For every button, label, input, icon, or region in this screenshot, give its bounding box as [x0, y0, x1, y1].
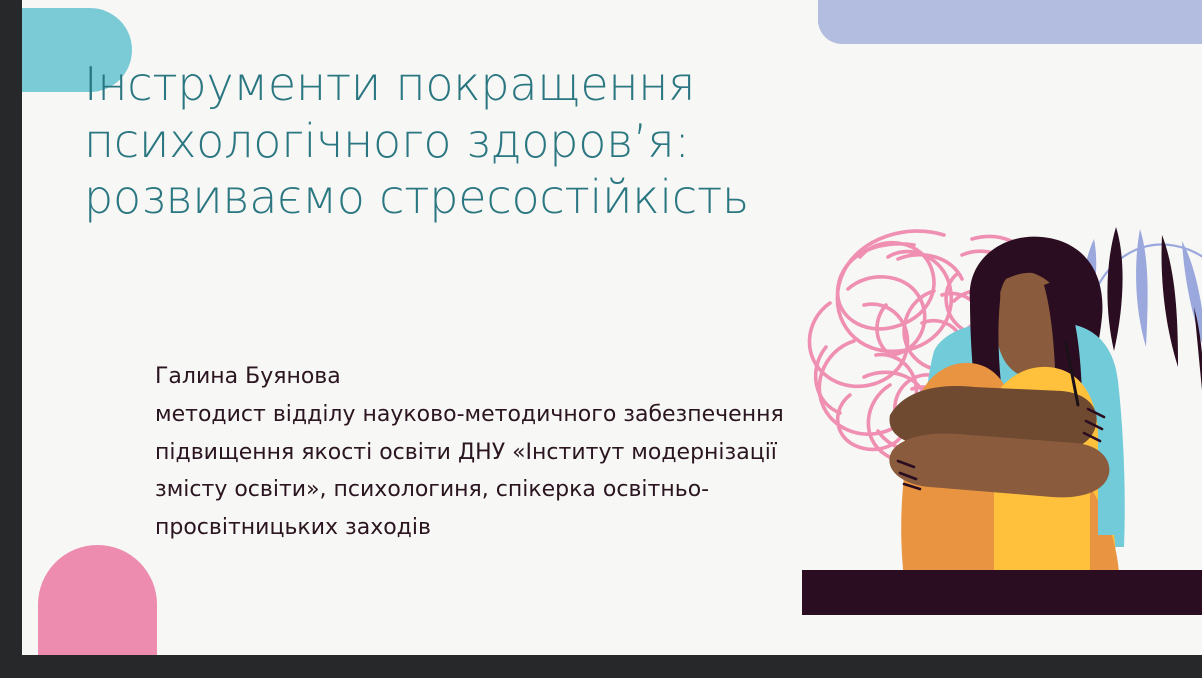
presentation-slide: Інструменти покращення психологічного зд…	[22, 0, 1202, 655]
title-block: Інструменти покращення психологічного зд…	[84, 56, 844, 226]
slide-viewer: Інструменти покращення психологічного зд…	[0, 0, 1202, 678]
pink-arch-decoration	[38, 545, 157, 655]
speaker-info-text: Галина Буянова методист відділу науково-…	[155, 358, 795, 547]
periwinkle-pill-decoration	[818, 0, 1202, 44]
ground-bar	[802, 570, 1202, 615]
speaker-info-block: Галина Буянова методист відділу науково-…	[155, 358, 795, 547]
page-title: Інструменти покращення психологічного зд…	[84, 56, 844, 226]
woman-figure	[889, 237, 1124, 603]
seated-woman-illustration	[794, 195, 1202, 615]
